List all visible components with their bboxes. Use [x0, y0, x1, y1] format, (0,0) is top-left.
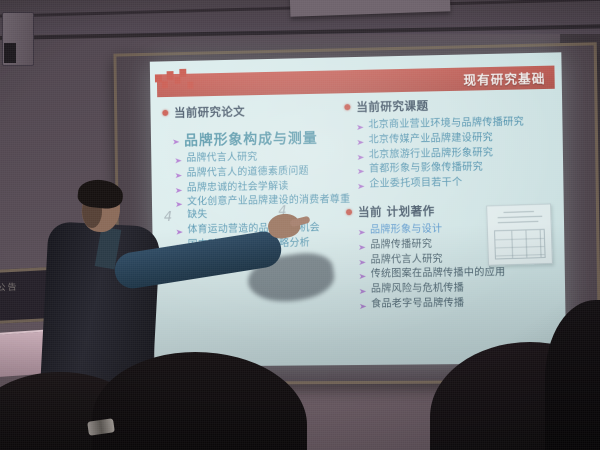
- list-item: ➤ 北京传媒产业品牌建设研究: [357, 131, 565, 148]
- bullet-dot-icon: [344, 104, 350, 110]
- list-item-label: 品牌代言人的道德素质问题: [186, 166, 308, 181]
- list-item: ➤ 传统图案在品牌传播中的应用: [359, 267, 566, 283]
- arrow-bullet-icon: ➤: [358, 257, 366, 266]
- list-item-label: 品牌代言人研究: [186, 152, 257, 166]
- arrow-bullet-icon: ➤: [359, 287, 367, 296]
- slide-banner: 现有研究基础: [157, 66, 555, 98]
- list-item: ➤ 品牌风险与危机传播: [359, 282, 566, 297]
- paper-table: [494, 229, 546, 260]
- arrow-bullet-icon: ➤: [174, 171, 182, 180]
- list-item-label: 品牌传播研究: [370, 239, 432, 253]
- list-item: ➤ 食品老字号品牌传播: [359, 297, 566, 312]
- right-heading-1-text: 当前研究课题: [356, 97, 428, 115]
- arrow-bullet-icon: ➤: [356, 123, 364, 132]
- right-column-heading-1: 当前研究课题: [344, 95, 564, 116]
- list-item-label: 食品老字号品牌传播: [371, 298, 464, 312]
- blackboard-text: 公告: [0, 280, 19, 294]
- list-item-label: 北京商业营业环境与品牌传播研究: [368, 117, 524, 133]
- arrow-bullet-icon: ➤: [359, 302, 367, 311]
- list-item-label: 北京传媒产业品牌建设研究: [369, 132, 494, 147]
- arrow-bullet-icon: ➤: [357, 167, 365, 176]
- list-item-label: 传统图案在品牌传播中的应用: [371, 267, 506, 282]
- arrow-bullet-icon: ➤: [358, 272, 366, 281]
- list-item: ➤ 首都形象与影像传播研究: [357, 161, 565, 178]
- feature-item-text: 品牌形象构成与测量: [184, 128, 318, 150]
- left-column-heading: 当前研究论文: [162, 101, 350, 121]
- arrow-bullet-icon: ➤: [356, 152, 364, 161]
- slide-title: 现有研究基础: [463, 68, 545, 89]
- list-item: ➤ 北京商业营业环境与品牌传播研究: [357, 116, 565, 133]
- lecture-photo-scene: 公告 现有研究基础 当前研究论文: [0, 0, 600, 450]
- wall-speaker: [2, 12, 34, 66]
- list-item: ➤ 企业委托项目若干个: [357, 176, 565, 192]
- taped-paper-document: [486, 203, 553, 265]
- right-heading-2-text: 当前 计划著作: [358, 203, 435, 220]
- bullet-dot-icon: [346, 209, 352, 215]
- list-item-label: 品牌风险与危机传播: [371, 283, 464, 297]
- list-item-label: 品牌形象与设计: [370, 224, 443, 238]
- feature-item: ➤ 品牌形象构成与测量: [172, 127, 351, 150]
- red-blocks-logo-icon: [153, 68, 201, 95]
- list-item: ➤ 品牌代言人研究: [175, 150, 351, 166]
- arrow-bullet-icon: ➤: [358, 243, 366, 252]
- arrow-bullet-icon: ➤: [356, 138, 364, 147]
- arrow-bullet-icon: ➤: [172, 137, 180, 146]
- left-heading-text: 当前研究论文: [174, 103, 245, 120]
- list-item: ➤ 品牌代言人的道德素质问题: [175, 165, 351, 181]
- arrow-bullet-icon: ➤: [174, 156, 182, 165]
- list-item: ➤ 北京旅游行业品牌形象研究: [357, 146, 565, 163]
- arrow-bullet-icon: ➤: [357, 182, 365, 191]
- list-item-label: 北京旅游行业品牌形象研究: [369, 147, 494, 162]
- bullet-dot-icon: [162, 110, 168, 116]
- arrow-bullet-icon: ➤: [358, 228, 366, 237]
- list-item-label: 企业委托项目若干个: [369, 177, 462, 191]
- list-item-label: 品牌代言人研究: [370, 253, 443, 267]
- list-item-label: 首都形象与影像传播研究: [369, 162, 483, 177]
